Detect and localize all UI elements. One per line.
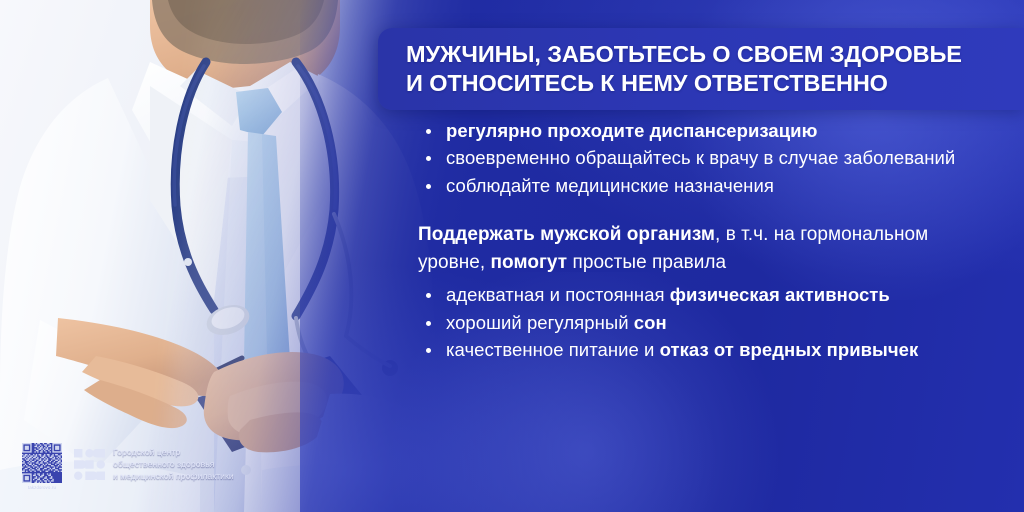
title-line-1: МУЖЧИНЫ, ЗАБОТЬТЕСЬ О СВОЕМ ЗДОРОВЬЕ xyxy=(406,41,962,67)
list-item: соблюдайте медицинские назначения xyxy=(418,173,993,199)
content-column: регулярно проходите диспансеризацию свое… xyxy=(418,118,993,364)
list-item-normal: качественное питание и xyxy=(446,339,660,360)
list-item-bold: физическая активность xyxy=(670,284,890,305)
qr-code-icon[interactable] xyxy=(22,443,62,483)
organization-name-line-1: Городской центр xyxy=(113,446,234,458)
organization-logo: Городской центр общественного здоровья и… xyxy=(74,443,234,483)
list-item: хороший регулярный сон xyxy=(418,310,993,336)
page-title: МУЖЧИНЫ, ЗАБОТЬТЕСЬ О СВОЕМ ЗДОРОВЬЕ И О… xyxy=(406,40,962,97)
list-item: своевременно обращайтесь к врачу в случа… xyxy=(418,145,993,171)
footer-branding: takzdorovo.ru xyxy=(22,443,234,490)
list-item-normal: хороший регулярный xyxy=(446,312,634,333)
organization-name-line-3: и медицинской профилактики xyxy=(113,470,234,482)
organization-name: Городской центр общественного здоровья и… xyxy=(113,446,234,483)
poster-canvas: МУЖЧИНЫ, ЗАБОТЬТЕСЬ О СВОЕМ ЗДОРОВЬЕ И О… xyxy=(0,0,1024,512)
qr-block: takzdorovo.ru xyxy=(22,443,62,490)
lead-bold-2: помогут xyxy=(491,252,568,273)
list-item: качественное питание и отказ от вредных … xyxy=(418,337,993,363)
title-banner: МУЖЧИНЫ, ЗАБОТЬТЕСЬ О СВОЕМ ЗДОРОВЬЕ И О… xyxy=(378,28,1024,110)
center-logo-icon xyxy=(74,449,105,480)
lead-paragraph: Поддержать мужской организм, в т.ч. на г… xyxy=(418,221,993,276)
title-line-2: И ОТНОСИТЕСЬ К НЕМУ ОТВЕТСТВЕННО xyxy=(406,70,888,96)
list-item-bold: сон xyxy=(634,312,667,333)
lead-bold-1: Поддержать мужской организм xyxy=(418,224,715,245)
recommendations-list-two: адекватная и постоянная физическая актив… xyxy=(418,282,993,363)
qr-caption: takzdorovo.ru xyxy=(28,485,56,490)
list-item-bold: отказ от вредных привычек xyxy=(660,339,919,360)
recommendations-list-one: регулярно проходите диспансеризацию свое… xyxy=(418,118,993,199)
list-item-normal: адекватная и постоянная xyxy=(446,284,670,305)
list-item: регулярно проходите диспансеризацию xyxy=(418,118,993,144)
lead-normal-2: простые правила xyxy=(567,252,726,273)
organization-name-line-2: общественного здоровья xyxy=(113,458,234,470)
list-item: адекватная и постоянная физическая актив… xyxy=(418,282,993,308)
